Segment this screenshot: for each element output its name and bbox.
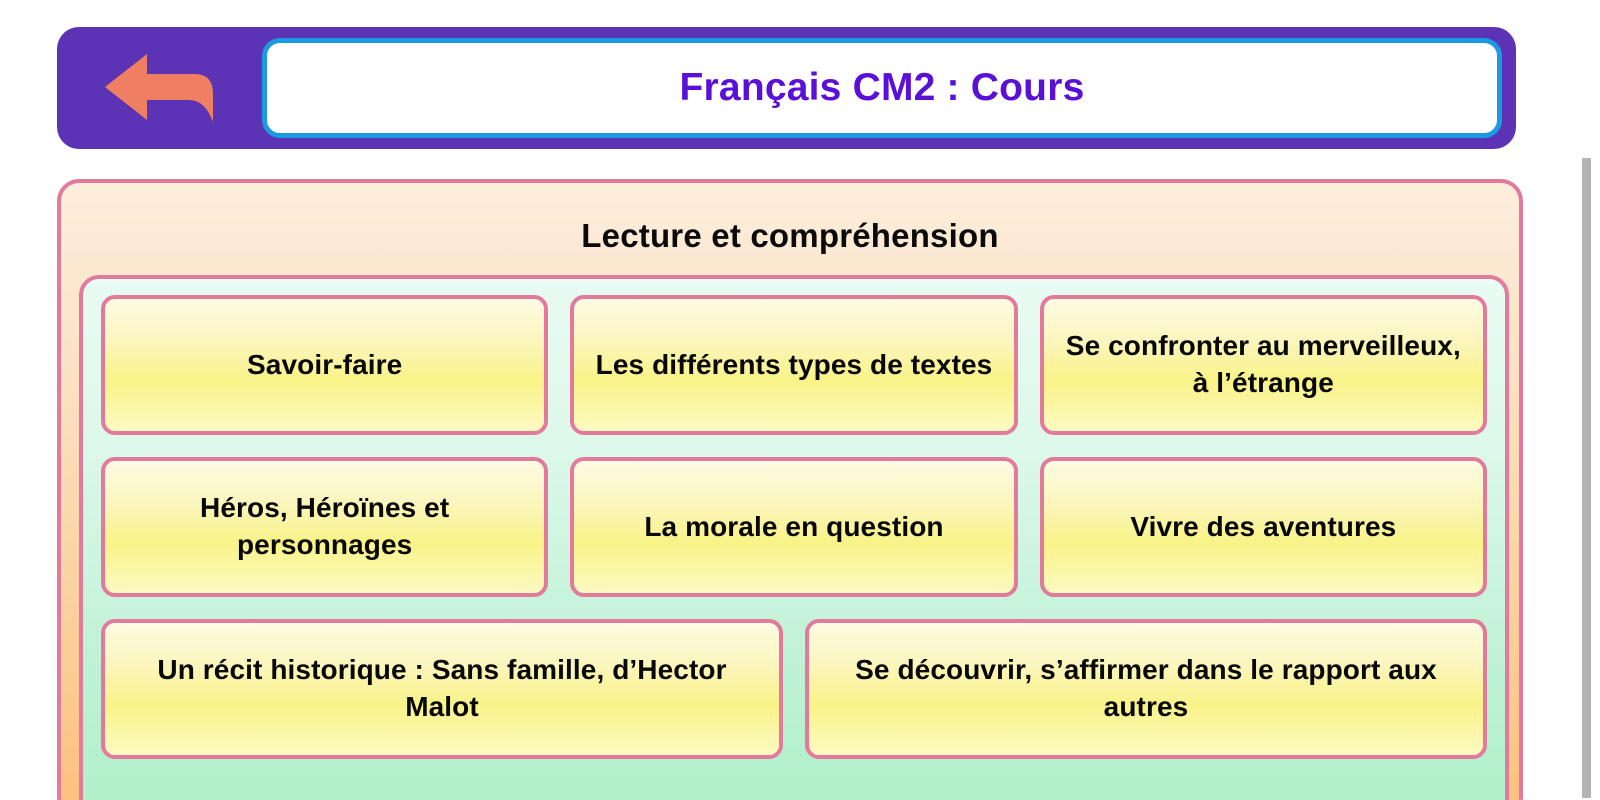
- section-panel: Lecture et compréhension Savoir-faire Le…: [57, 179, 1523, 800]
- lesson-card-label: Savoir-faire: [247, 347, 402, 384]
- app-root: Français CM2 : Cours Lecture et compréhe…: [0, 0, 1600, 800]
- page-title-box: Français CM2 : Cours: [262, 38, 1502, 138]
- lesson-card[interactable]: Se découvrir, s’affirmer dans le rapport…: [805, 619, 1487, 759]
- lesson-card-label: Héros, Héroïnes et personnages: [121, 490, 528, 564]
- page-title: Français CM2 : Cours: [680, 66, 1085, 110]
- lesson-card[interactable]: Un récit historique : Sans famille, d’He…: [101, 619, 783, 759]
- section-title: Lecture et compréhension: [61, 183, 1519, 267]
- scrollbar-thumb[interactable]: [1582, 158, 1591, 798]
- lesson-card-label: Vivre des aventures: [1130, 509, 1396, 546]
- lesson-card[interactable]: Vivre des aventures: [1040, 457, 1487, 597]
- card-row: Savoir-faire Les différents types de tex…: [101, 295, 1487, 435]
- lesson-card[interactable]: La morale en question: [570, 457, 1017, 597]
- lesson-card[interactable]: Se confronter au merveilleux, à l’étrang…: [1040, 295, 1487, 435]
- lesson-card-label: Les différents types de textes: [596, 347, 993, 384]
- lesson-card-label: Se confronter au merveilleux, à l’étrang…: [1060, 328, 1467, 402]
- back-button[interactable]: [57, 27, 262, 149]
- lesson-card[interactable]: Les différents types de textes: [570, 295, 1017, 435]
- back-arrow-icon: [101, 50, 219, 126]
- header-bar: Français CM2 : Cours: [57, 27, 1516, 149]
- card-row: Un récit historique : Sans famille, d’He…: [101, 619, 1487, 759]
- lesson-card[interactable]: Héros, Héroïnes et personnages: [101, 457, 548, 597]
- lesson-card-label: Un récit historique : Sans famille, d’He…: [121, 652, 763, 726]
- lessons-grid: Savoir-faire Les différents types de tex…: [79, 275, 1509, 800]
- card-row: Héros, Héroïnes et personnages La morale…: [101, 457, 1487, 597]
- lesson-card[interactable]: Savoir-faire: [101, 295, 548, 435]
- lesson-card-label: La morale en question: [644, 509, 943, 546]
- lesson-card-label: Se découvrir, s’affirmer dans le rapport…: [825, 652, 1467, 726]
